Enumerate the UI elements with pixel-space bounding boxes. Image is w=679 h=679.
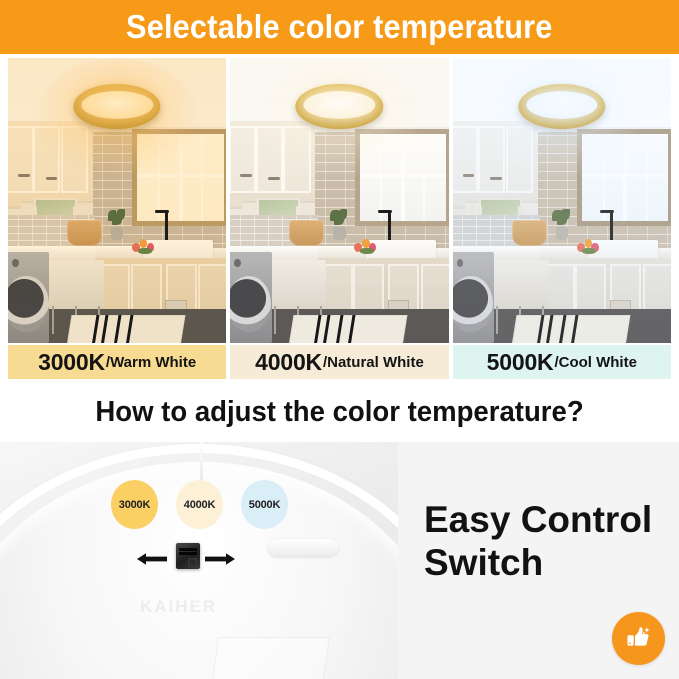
brand-emboss: KAIHER <box>140 597 270 619</box>
switch-slot-2 <box>179 552 196 555</box>
badge-4000k: 4000K <box>176 480 223 529</box>
washing-machine <box>8 252 49 343</box>
utility-sink <box>270 260 327 308</box>
thumbs-up-icon <box>623 623 654 654</box>
thumbs-up-badge <box>612 612 665 665</box>
badge-3000k: 3000K <box>111 480 158 529</box>
photo-cell-5000k <box>453 58 671 343</box>
section-heading: How to adjust the color temperature? <box>17 386 662 438</box>
upper-cabinets <box>8 121 93 210</box>
badge-5000k: 5000K <box>241 480 288 529</box>
color-temperature-label-row: 3000K /Warm White 4000K /Natural White 5… <box>8 345 671 379</box>
label-kelvin: 5000K <box>487 349 554 376</box>
label-name: /Natural White <box>323 354 424 371</box>
utility-sink <box>47 260 104 308</box>
upper-cabinets <box>230 121 315 210</box>
potted-plant <box>329 209 351 240</box>
badge-label: 3000K <box>119 499 150 511</box>
striped-rug <box>67 315 185 344</box>
color-temperature-slide-switch[interactable] <box>176 543 200 569</box>
label-name: /Warm White <box>106 354 196 371</box>
utility-sink <box>492 260 549 308</box>
easy-control-text-panel: Easy Control Switch <box>398 442 679 679</box>
label-4000k: 4000K /Natural White <box>230 345 448 379</box>
easy-control-switch-section: KAIHER Easy Control Switch <box>0 442 679 679</box>
wicker-basket <box>67 220 102 246</box>
ceiling-light-fixture <box>518 84 605 130</box>
headline-line-1: Easy Control <box>424 499 674 542</box>
label-name: /Cool White <box>554 354 637 371</box>
label-5000k: 5000K /Cool White <box>453 345 671 379</box>
headline-line-2: Switch <box>424 542 674 585</box>
photo-cell-3000k <box>8 58 226 343</box>
potted-plant <box>551 209 573 240</box>
striped-rug <box>289 315 407 344</box>
ceiling-light-fixture <box>296 84 383 130</box>
photo-cell-4000k <box>230 58 448 343</box>
washing-machine <box>453 252 494 343</box>
window <box>132 129 226 226</box>
label-kelvin: 3000K <box>38 349 105 376</box>
wicker-basket <box>289 220 324 246</box>
color-temperature-photo-row <box>8 58 671 343</box>
label-kelvin: 4000K <box>255 349 322 376</box>
window <box>355 129 449 226</box>
header-banner: Selectable color temperature <box>0 0 679 54</box>
washing-machine <box>230 252 271 343</box>
badge-label: 4000K <box>184 499 215 511</box>
label-3000k: 3000K /Warm White <box>8 345 226 379</box>
product-infographic: Selectable color temperature <box>0 0 679 679</box>
ceiling-light-fixture <box>73 84 160 130</box>
wicker-basket <box>512 220 547 246</box>
striped-rug <box>511 315 629 344</box>
upper-cabinets <box>453 121 538 210</box>
banner-title: Selectable color temperature <box>126 8 553 46</box>
badge-label: 5000K <box>249 499 280 511</box>
mounting-clip <box>268 539 338 556</box>
right-arrow-icon <box>205 552 235 566</box>
easy-control-headline: Easy Control Switch <box>424 499 674 585</box>
left-arrow-icon <box>137 552 167 566</box>
room-photo-natural <box>230 58 448 343</box>
window <box>577 129 671 226</box>
switch-toggle-nub <box>188 558 196 567</box>
room-photo-warm <box>8 58 226 343</box>
room-photo-cool <box>453 58 671 343</box>
potted-plant <box>106 209 128 240</box>
switch-slot-1 <box>179 548 196 551</box>
back-plate-panel <box>212 637 330 679</box>
